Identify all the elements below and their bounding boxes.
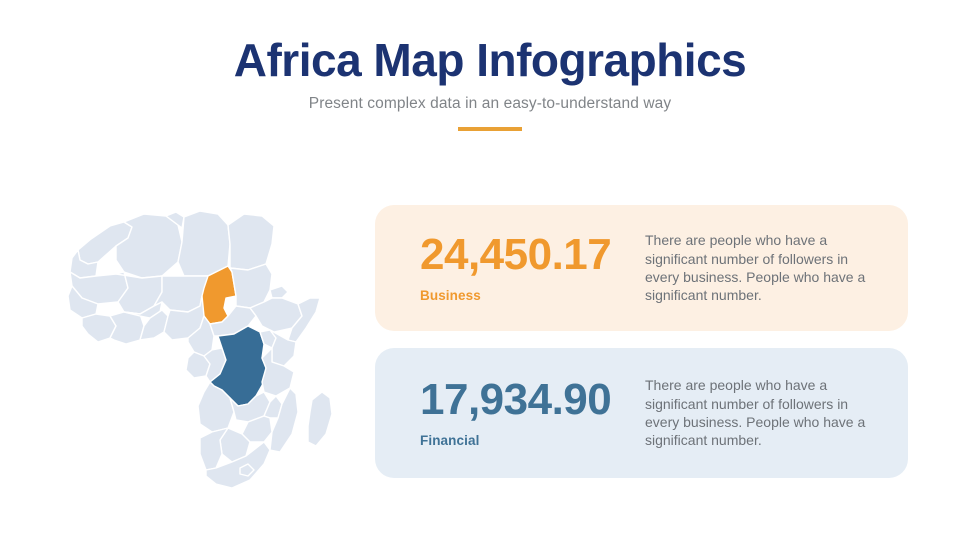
stat-value-financial: 17,934.90 (420, 378, 645, 422)
map-region-egypt[interactable] (228, 214, 274, 270)
map-region-algeria[interactable] (116, 214, 182, 278)
stat-description-financial: There are people who have a significant … (645, 376, 908, 450)
stat-description-business: There are people who have a significant … (645, 231, 908, 305)
stat-card-financial[interactable]: 17,934.90 Financial There are people who… (375, 348, 908, 478)
stat-label-business: Business (420, 277, 645, 303)
map-region-madagascar[interactable] (308, 392, 332, 446)
map-region-libya[interactable] (178, 211, 230, 276)
stat-value-business: 24,450.17 (420, 233, 645, 277)
africa-map-svg (58, 192, 368, 502)
page-title: Africa Map Infographics (0, 0, 980, 84)
map-region-eritrea[interactable] (270, 286, 288, 298)
title-divider (458, 127, 522, 131)
africa-map-container (58, 192, 368, 502)
map-region-ivory-coast[interactable] (110, 312, 144, 344)
stat-card-financial-left: 17,934.90 Financial (375, 378, 645, 448)
page-header: Africa Map Infographics Present complex … (0, 0, 980, 131)
stat-label-financial: Financial (420, 422, 645, 448)
stat-card-business-left: 24,450.17 Business (375, 233, 645, 303)
stat-card-business[interactable]: 24,450.17 Business There are people who … (375, 205, 908, 331)
page-subtitle: Present complex data in an easy-to-under… (0, 84, 980, 113)
